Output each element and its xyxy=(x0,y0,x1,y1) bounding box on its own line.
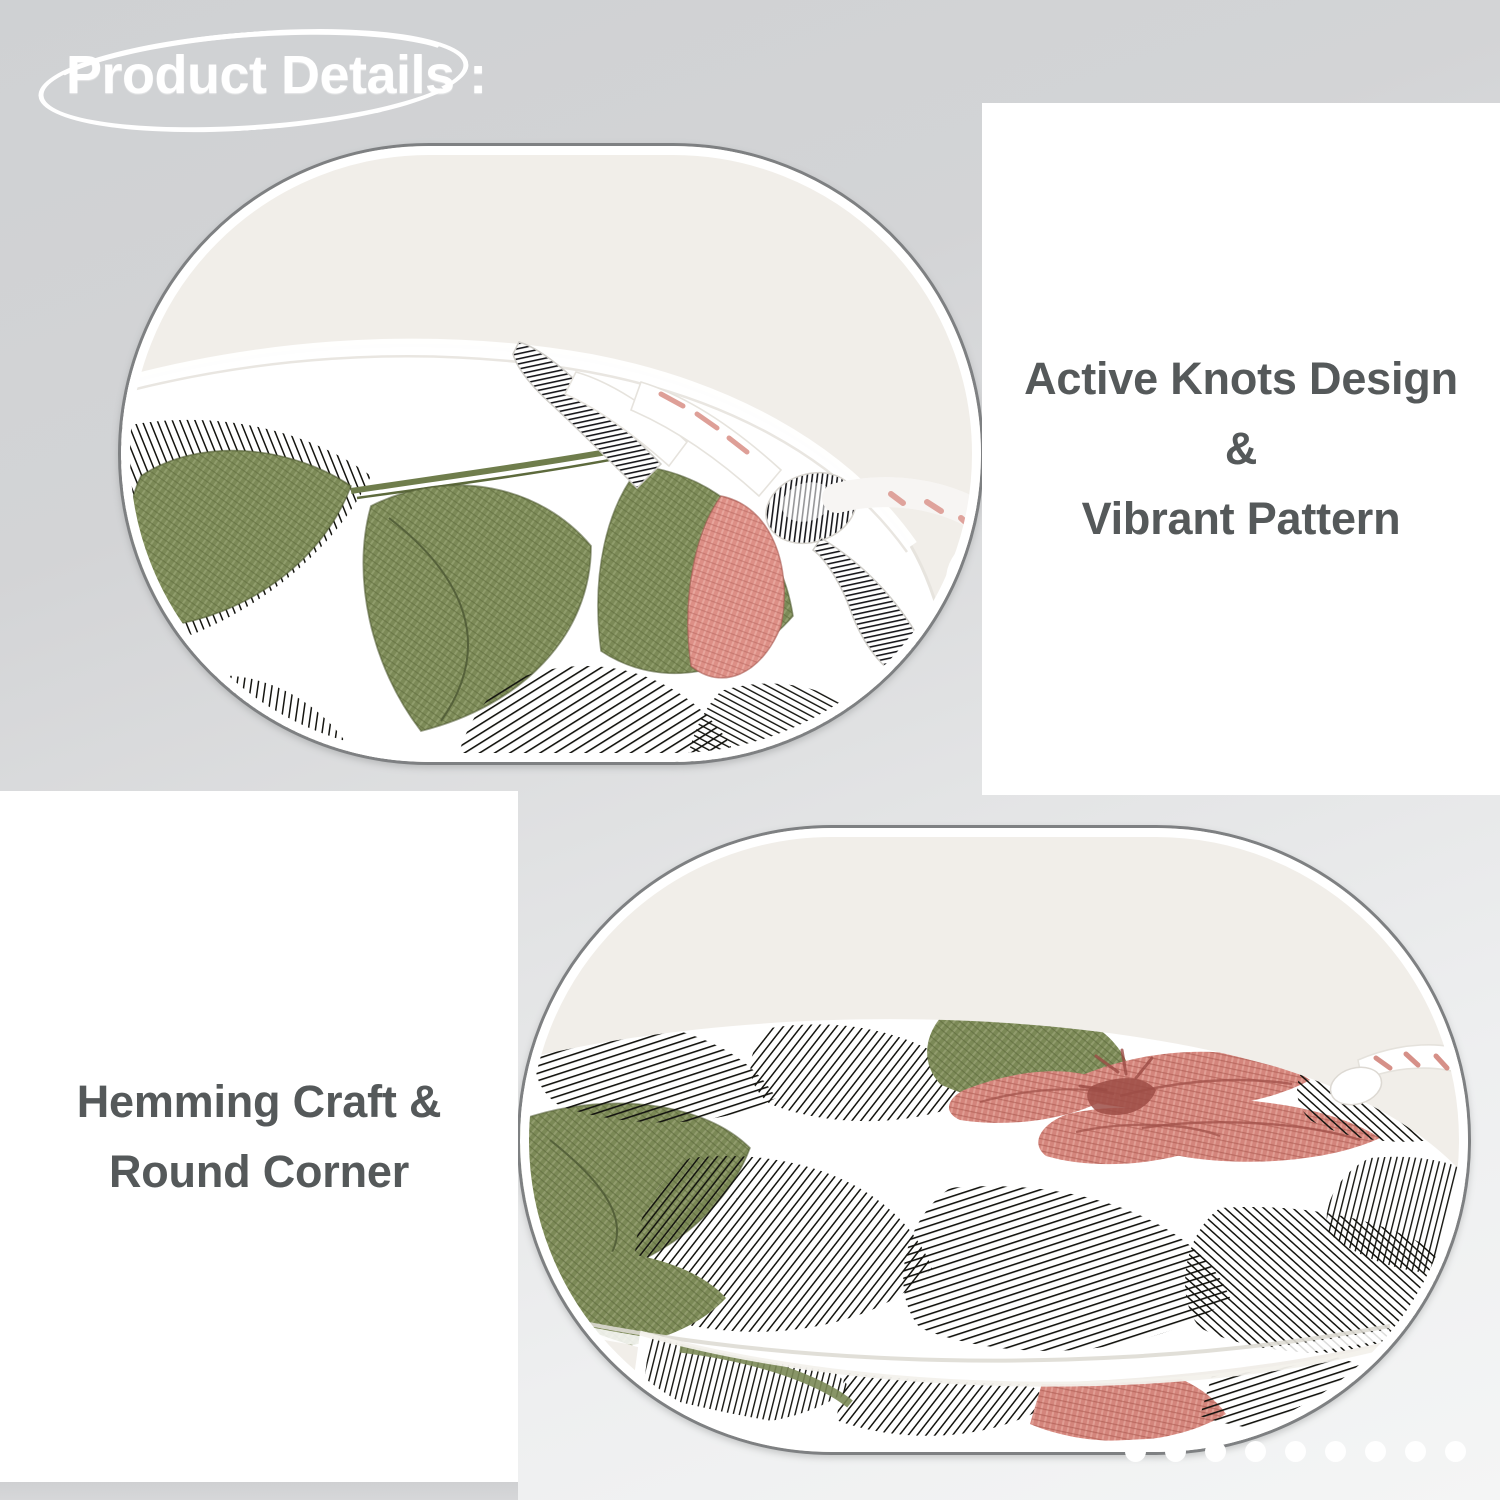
feature-card-hemming: Hemming Craft & Round Corner xyxy=(0,791,518,1482)
pagination-dot[interactable] xyxy=(1365,1441,1386,1462)
feature-heading-hemming-line2: Round Corner xyxy=(109,1146,409,1197)
feature-heading-knots-line1: Active Knots Design & xyxy=(1024,353,1458,474)
pagination-dot[interactable] xyxy=(1165,1441,1186,1462)
pagination-dot[interactable] xyxy=(1245,1441,1266,1462)
feature-heading-hemming: Hemming Craft & Round Corner xyxy=(55,1067,464,1207)
photo-canvas-hemming xyxy=(520,828,1468,1452)
knots-illustration xyxy=(121,146,981,762)
pagination-dot[interactable] xyxy=(1125,1441,1146,1462)
feature-heading-knots-line2: Vibrant Pattern xyxy=(1082,493,1401,544)
pagination-dot[interactable] xyxy=(1445,1441,1466,1462)
pagination-dot[interactable] xyxy=(1405,1441,1426,1462)
bottom-gray-strip xyxy=(0,1482,518,1500)
page-title: Product Details : xyxy=(38,28,508,138)
pagination-dot[interactable] xyxy=(1205,1441,1226,1462)
page-title-text: Product Details : xyxy=(66,44,487,106)
feature-heading-hemming-line1: Hemming Craft & xyxy=(77,1076,442,1127)
photo-canvas-knots xyxy=(121,146,981,762)
pagination-dot[interactable] xyxy=(1285,1441,1306,1462)
feature-heading-knots: Active Knots Design & Vibrant Pattern xyxy=(982,344,1500,553)
feature-photo-knots xyxy=(118,143,984,765)
pagination-dots[interactable] xyxy=(1125,1441,1466,1462)
hemming-illustration xyxy=(520,828,1468,1452)
pagination-dot[interactable] xyxy=(1325,1441,1346,1462)
feature-card-knots: Active Knots Design & Vibrant Pattern xyxy=(982,103,1500,795)
feature-photo-hemming xyxy=(517,825,1471,1455)
